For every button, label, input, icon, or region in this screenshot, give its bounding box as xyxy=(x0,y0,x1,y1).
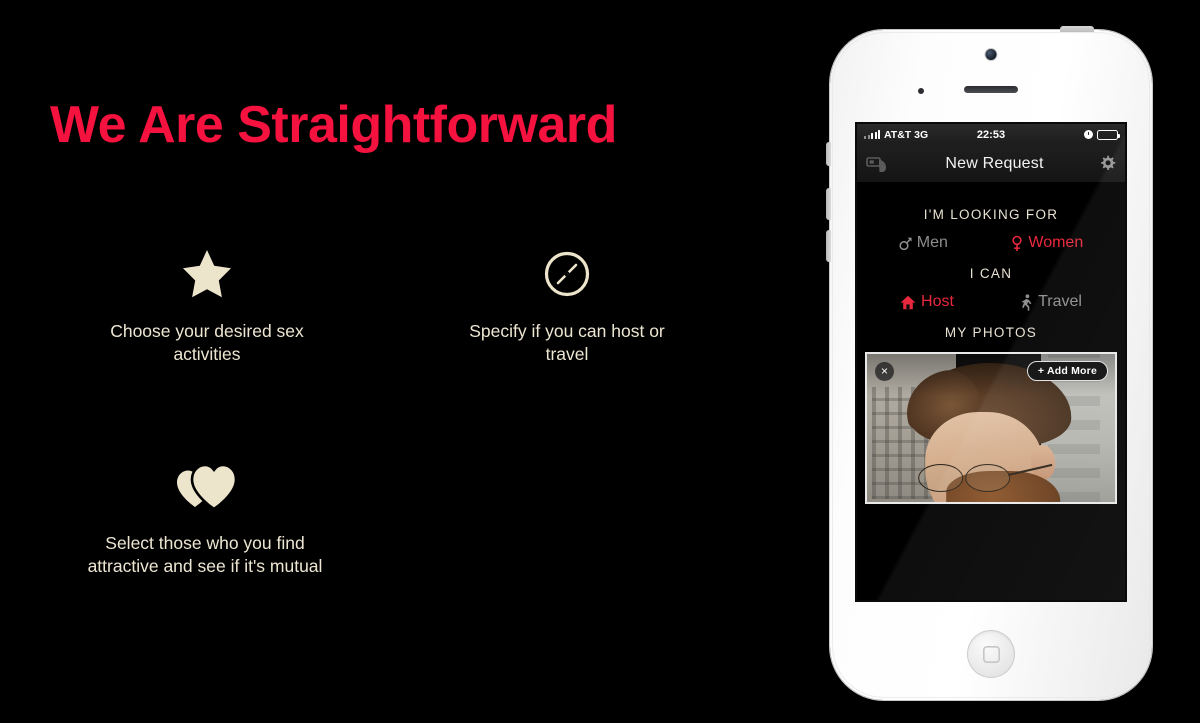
compass-icon xyxy=(543,250,591,298)
hearts-icon-wrap xyxy=(85,452,325,510)
volume-down-button[interactable] xyxy=(826,230,831,262)
mars-icon xyxy=(899,236,912,251)
section-title-i-can: I CAN xyxy=(857,266,1125,281)
i-can-options: Host Travel xyxy=(857,293,1125,311)
compass-icon-wrap xyxy=(447,240,687,298)
hand-card-icon[interactable] xyxy=(866,155,890,173)
front-camera xyxy=(986,49,997,60)
feature-caption: Choose your desired sex activities xyxy=(87,320,327,367)
venus-icon xyxy=(1011,235,1023,252)
walking-icon xyxy=(1020,294,1033,311)
app-content: I'M LOOKING FOR Men Wome xyxy=(857,183,1125,504)
feature-caption: Specify if you can host or travel xyxy=(447,320,687,367)
nav-bar: New Request xyxy=(857,145,1125,183)
alarm-clock-icon xyxy=(1084,130,1093,139)
page-title: We Are Straightforward xyxy=(50,97,617,154)
iphone-mockup: AT&T 3G 22:53 New Request xyxy=(830,30,1152,700)
power-button[interactable] xyxy=(1060,26,1094,32)
option-label: Women xyxy=(1028,234,1083,252)
nav-title: New Request xyxy=(945,155,1043,173)
option-women[interactable]: Women xyxy=(1011,234,1083,252)
add-more-button[interactable]: + Add More xyxy=(1027,361,1108,381)
option-host[interactable]: Host xyxy=(900,293,954,311)
status-right xyxy=(1084,130,1118,140)
status-bar: AT&T 3G 22:53 xyxy=(857,124,1125,145)
option-label: Host xyxy=(921,293,954,311)
phone-screen: AT&T 3G 22:53 New Request xyxy=(857,124,1125,600)
earpiece-speaker xyxy=(964,86,1018,93)
option-travel[interactable]: Travel xyxy=(1020,293,1082,311)
option-label: Travel xyxy=(1038,293,1082,311)
section-title-looking-for: I'M LOOKING FOR xyxy=(857,207,1125,222)
home-button[interactable] xyxy=(967,630,1015,678)
photo-thumbnail[interactable]: × + Add More xyxy=(865,352,1117,504)
option-label: Men xyxy=(917,234,948,252)
battery-icon xyxy=(1097,130,1118,140)
mute-switch[interactable] xyxy=(826,142,831,166)
feature-mutual-match: Select those who you find attractive and… xyxy=(85,452,325,579)
ambient-sensor xyxy=(918,88,924,94)
section-title-my-photos: MY PHOTOS xyxy=(857,325,1125,340)
star-icon-wrap xyxy=(87,240,327,298)
volume-up-button[interactable] xyxy=(826,188,831,220)
gear-icon[interactable] xyxy=(1099,155,1116,172)
feature-caption: Select those who you find attractive and… xyxy=(85,532,325,579)
home-icon xyxy=(900,295,916,310)
close-icon[interactable]: × xyxy=(875,362,894,381)
home-button-square-icon xyxy=(983,646,1000,663)
marketing-panel: We Are Straightforward Choose your desir… xyxy=(0,0,760,723)
hearts-icon xyxy=(173,464,237,510)
feature-choose-activities: Choose your desired sex activities xyxy=(87,240,327,367)
looking-for-options: Men Women xyxy=(857,234,1125,252)
option-men[interactable]: Men xyxy=(899,234,948,252)
feature-host-or-travel: Specify if you can host or travel xyxy=(447,240,687,367)
star-icon xyxy=(181,248,233,298)
